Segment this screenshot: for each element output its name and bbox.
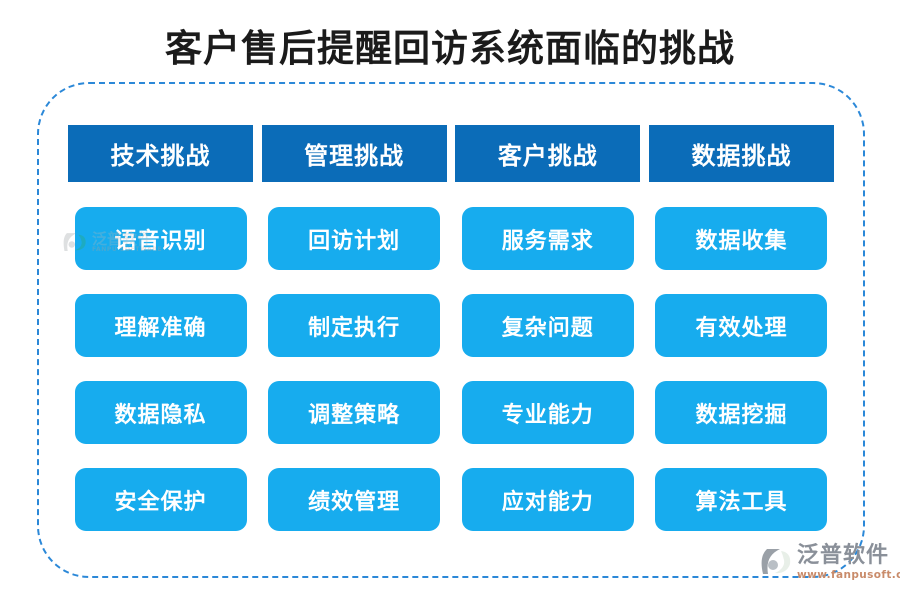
column-header-data[interactable]: 数据挑战 — [649, 125, 834, 182]
challenge-cell[interactable]: 理解准确 — [75, 294, 247, 357]
brand-text: 泛普软件 www.fanpusoft.com — [797, 545, 900, 581]
challenge-cell[interactable]: 应对能力 — [462, 468, 634, 531]
challenge-cell[interactable]: 回访计划 — [268, 207, 440, 270]
challenge-cell[interactable]: 绩效管理 — [268, 468, 440, 531]
cell-list-technical: 语音识别 理解准确 数据隐私 安全保护 — [68, 207, 253, 531]
challenge-cell[interactable]: 复杂问题 — [462, 294, 634, 357]
column-header-customer[interactable]: 客户挑战 — [455, 125, 640, 182]
challenge-cell[interactable]: 数据挖掘 — [655, 381, 827, 444]
brand-logo: 泛普软件 www.fanpusoft.com — [760, 545, 896, 589]
challenge-column-customer: 客户挑战 服务需求 复杂问题 专业能力 应对能力 — [455, 125, 640, 533]
column-header-technical[interactable]: 技术挑战 — [68, 125, 253, 182]
challenge-matrix: 技术挑战 语音识别 理解准确 数据隐私 安全保护 管理挑战 回访计划 制定执行 … — [68, 125, 834, 533]
cell-list-data: 数据收集 有效处理 数据挖掘 算法工具 — [649, 207, 834, 531]
page-title: 客户售后提醒回访系统面临的挑战 — [0, 18, 900, 72]
challenge-cell[interactable]: 专业能力 — [462, 381, 634, 444]
brand-url: www.fanpusoft.com — [797, 570, 900, 581]
challenge-cell[interactable]: 数据隐私 — [75, 381, 247, 444]
challenge-cell[interactable]: 数据收集 — [655, 207, 827, 270]
cell-list-customer: 服务需求 复杂问题 专业能力 应对能力 — [455, 207, 640, 531]
challenge-cell[interactable]: 调整策略 — [268, 381, 440, 444]
challenge-cell[interactable]: 有效处理 — [655, 294, 827, 357]
column-header-management[interactable]: 管理挑战 — [262, 125, 447, 182]
challenge-column-management: 管理挑战 回访计划 制定执行 调整策略 绩效管理 — [262, 125, 447, 533]
slide-canvas: 客户售后提醒回访系统面临的挑战 技术挑战 语音识别 理解准确 数据隐私 安全保护… — [0, 0, 900, 600]
challenge-cell[interactable]: 安全保护 — [75, 468, 247, 531]
challenge-cell[interactable]: 服务需求 — [462, 207, 634, 270]
challenge-cell[interactable]: 语音识别 — [75, 207, 247, 270]
challenge-column-data: 数据挑战 数据收集 有效处理 数据挖掘 算法工具 — [649, 125, 834, 533]
brand-name-cn: 泛普软件 — [797, 545, 900, 567]
fanpu-logo-icon — [760, 546, 792, 576]
challenge-column-technical: 技术挑战 语音识别 理解准确 数据隐私 安全保护 — [68, 125, 253, 533]
challenge-cell[interactable]: 制定执行 — [268, 294, 440, 357]
cell-list-management: 回访计划 制定执行 调整策略 绩效管理 — [262, 207, 447, 531]
challenge-cell[interactable]: 算法工具 — [655, 468, 827, 531]
